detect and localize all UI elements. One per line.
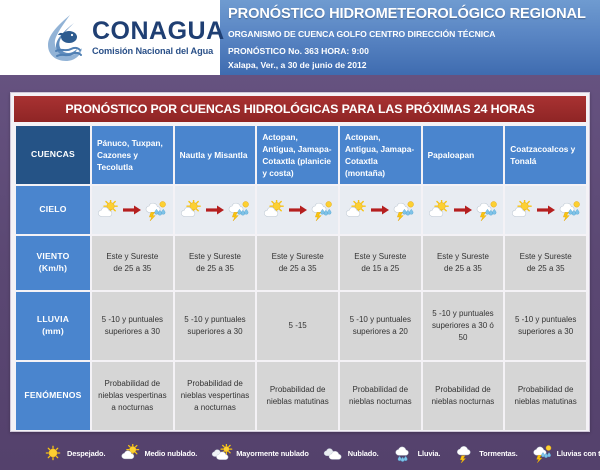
logo-wordmark: CONAGUA <box>92 19 225 44</box>
conagua-water-drop-eagle-logo-icon <box>44 13 88 63</box>
viento-cell-1: Este y Surestede 25 a 35 <box>175 236 256 290</box>
viento-cell-3: Este y Surestede 15 a 25 <box>340 236 421 290</box>
viento-cell-0: Este y Surestede 25 a 35 <box>92 236 173 290</box>
lluvia-cell-4: 5 -10 y puntuales superiores a 30 ó 50 <box>423 292 504 360</box>
sky-pair-1 <box>175 200 256 221</box>
row-fenomenos: FENÓMENOS Probabilidad de nieblas vesper… <box>16 362 586 430</box>
mayormente-nublado-icon <box>211 444 233 463</box>
lluvias-con-tormentas-icon <box>310 200 335 221</box>
cielo-cell-1 <box>175 186 256 234</box>
legend-item-2: Mayormente nublado <box>211 444 309 463</box>
table-header-row: CUENCAS Pánuco, Tuxpan, Cazones y Tecolu… <box>16 126 586 184</box>
forecast-table: CUENCAS Pánuco, Tuxpan, Cazones y Tecolu… <box>14 124 588 432</box>
transition-arrow-icon <box>369 204 391 216</box>
legend-label-4: Lluvia. <box>418 449 441 458</box>
sky-pair-4 <box>423 200 504 221</box>
fenomenos-cell-1: Probabilidad de nieblas vespertinas a no… <box>175 362 256 430</box>
viento-cell-5: Este y Surestede 25 a 35 <box>505 236 586 290</box>
legend-label-2: Mayormente nublado <box>236 449 309 458</box>
legend-item-5: Tormentas. <box>454 444 517 463</box>
row-label-viento-line2: (Km/h) <box>16 263 90 275</box>
medio-nublado-icon <box>426 200 451 221</box>
medio-nublado-icon <box>343 200 368 221</box>
cielo-cell-0 <box>92 186 173 234</box>
cielo-cell-2 <box>257 186 338 234</box>
lluvia-cell-3: 5 -10 y puntuales superiores a 20 <box>340 292 421 360</box>
lluvias-con-tormentas-icon <box>392 200 417 221</box>
column-header-1: Nautla y Misantla <box>175 126 256 184</box>
row-label-fenomenos: FENÓMENOS <box>16 362 90 430</box>
lluvia-icon <box>393 444 415 463</box>
nublado-icon <box>323 444 345 463</box>
fenomenos-cell-4: Probabilidad de nieblas nocturnas <box>423 362 504 430</box>
table-title: PRONÓSTICO POR CUENCAS HIDROLÓGICAS PARA… <box>14 96 586 122</box>
viento-cell-2: Este y Surestede 25 a 35 <box>257 236 338 290</box>
legend-item-1: Medio nublado. <box>119 444 197 463</box>
column-header-3: Actopan, Antigua, Jamapa- Cotaxtla (mont… <box>340 126 421 184</box>
transition-arrow-icon <box>204 204 226 216</box>
row-label-lluvia-line2: (mm) <box>16 326 90 338</box>
logo-subtitle: Comisión Nacional del Agua <box>92 46 225 56</box>
legend-label-0: Despejado. <box>67 449 105 458</box>
row-lluvia: LLUVIA (mm) 5 -10 y puntuales superiores… <box>16 292 586 360</box>
page-title: PRONÓSTICO HIDROMETEOROLÓGICO REGIONAL <box>228 4 600 24</box>
cielo-cell-5 <box>505 186 586 234</box>
row-label-cielo: CIELO <box>16 186 90 234</box>
row-label-viento: VIENTO (Km/h) <box>16 236 90 290</box>
fenomenos-cell-5: Probabilidad de nieblas matutinas <box>505 362 586 430</box>
page-header: CONAGUA Comisión Nacional del Agua PRONÓ… <box>0 0 600 75</box>
legend-item-0: Despejado. <box>42 444 105 463</box>
medio-nublado-icon <box>95 200 120 221</box>
medio-nublado-icon <box>261 200 286 221</box>
transition-arrow-icon <box>121 204 143 216</box>
legend-item-6: Lluvias con tormentas. <box>532 444 600 463</box>
header-text-block: PRONÓSTICO HIDROMETEOROLÓGICO REGIONAL O… <box>220 0 600 75</box>
despejado-icon <box>42 444 64 463</box>
sky-pair-0 <box>92 200 173 221</box>
fenomenos-cell-0: Probabilidad de nieblas vespertinas a no… <box>92 362 173 430</box>
fenomenos-cell-2: Probabilidad de nieblas matutinas <box>257 362 338 430</box>
forecast-page: CONAGUA Comisión Nacional del Agua PRONÓ… <box>0 0 600 470</box>
cielo-cell-3 <box>340 186 421 234</box>
lluvias-con-tormentas-icon <box>532 444 554 463</box>
header-forecast-number: PRONÓSTICO No. 363 HORA: 9:00 <box>228 45 600 57</box>
column-header-0: Pánuco, Tuxpan, Cazones y Tecolutla <box>92 126 173 184</box>
lluvia-cell-2: 5 -15 <box>257 292 338 360</box>
transition-arrow-icon <box>535 204 557 216</box>
row-label-lluvia: LLUVIA (mm) <box>16 292 90 360</box>
header-organism: ORGANISMO DE CUENCA GOLFO CENTRO DIRECCI… <box>228 28 600 40</box>
row-label-viento-line1: VIENTO <box>16 251 90 263</box>
medio-nublado-icon <box>509 200 534 221</box>
transition-arrow-icon <box>452 204 474 216</box>
column-header-5: Coatzacoalcos y Tonalá <box>505 126 586 184</box>
legend-item-4: Lluvia. <box>393 444 441 463</box>
header-place-date: Xalapa, Ver., a 30 de junio de 2012 <box>228 59 600 71</box>
transition-arrow-icon <box>287 204 309 216</box>
row-cielo: CIELO <box>16 186 586 234</box>
lluvia-cell-5: 5 -10 y puntuales superiores a 30 <box>505 292 586 360</box>
sky-pair-5 <box>505 200 586 221</box>
forecast-panel: PRONÓSTICO POR CUENCAS HIDROLÓGICAS PARA… <box>10 92 590 432</box>
column-header-4: Papaloapan <box>423 126 504 184</box>
legend-label-5: Tormentas. <box>479 449 517 458</box>
conagua-logo: CONAGUA Comisión Nacional del Agua <box>0 0 220 75</box>
lluvias-con-tormentas-icon <box>475 200 500 221</box>
medio-nublado-icon <box>119 444 141 463</box>
row-viento: VIENTO (Km/h) Este y Surestede 25 a 35 E… <box>16 236 586 290</box>
lluvia-cell-1: 5 -10 y puntuales superiores a 30 <box>175 292 256 360</box>
cielo-cell-4 <box>423 186 504 234</box>
legend-item-3: Nublado. <box>323 444 379 463</box>
fenomenos-cell-3: Probabilidad de nieblas nocturnas <box>340 362 421 430</box>
lluvia-cell-0: 5 -10 y puntuales superiores a 30 <box>92 292 173 360</box>
legend-label-1: Medio nublado. <box>144 449 197 458</box>
row-label-lluvia-line1: LLUVIA <box>16 314 90 326</box>
row-label-cuencas: CUENCAS <box>16 126 90 184</box>
lluvias-con-tormentas-icon <box>144 200 169 221</box>
lluvias-con-tormentas-icon <box>558 200 583 221</box>
viento-cell-4: Este y Surestede 25 a 35 <box>423 236 504 290</box>
legend-label-3: Nublado. <box>348 449 379 458</box>
sky-pair-2 <box>257 200 338 221</box>
legend-label-6: Lluvias con tormentas. <box>557 449 600 458</box>
column-header-2: Actopan, Antigua, Jamapa-Cotaxtla (plani… <box>257 126 338 184</box>
sky-pair-3 <box>340 200 421 221</box>
weather-legend: Despejado.Medio nublado.Mayormente nubla… <box>0 436 600 470</box>
tormentas-icon <box>454 444 476 463</box>
lluvias-con-tormentas-icon <box>227 200 252 221</box>
medio-nublado-icon <box>178 200 203 221</box>
